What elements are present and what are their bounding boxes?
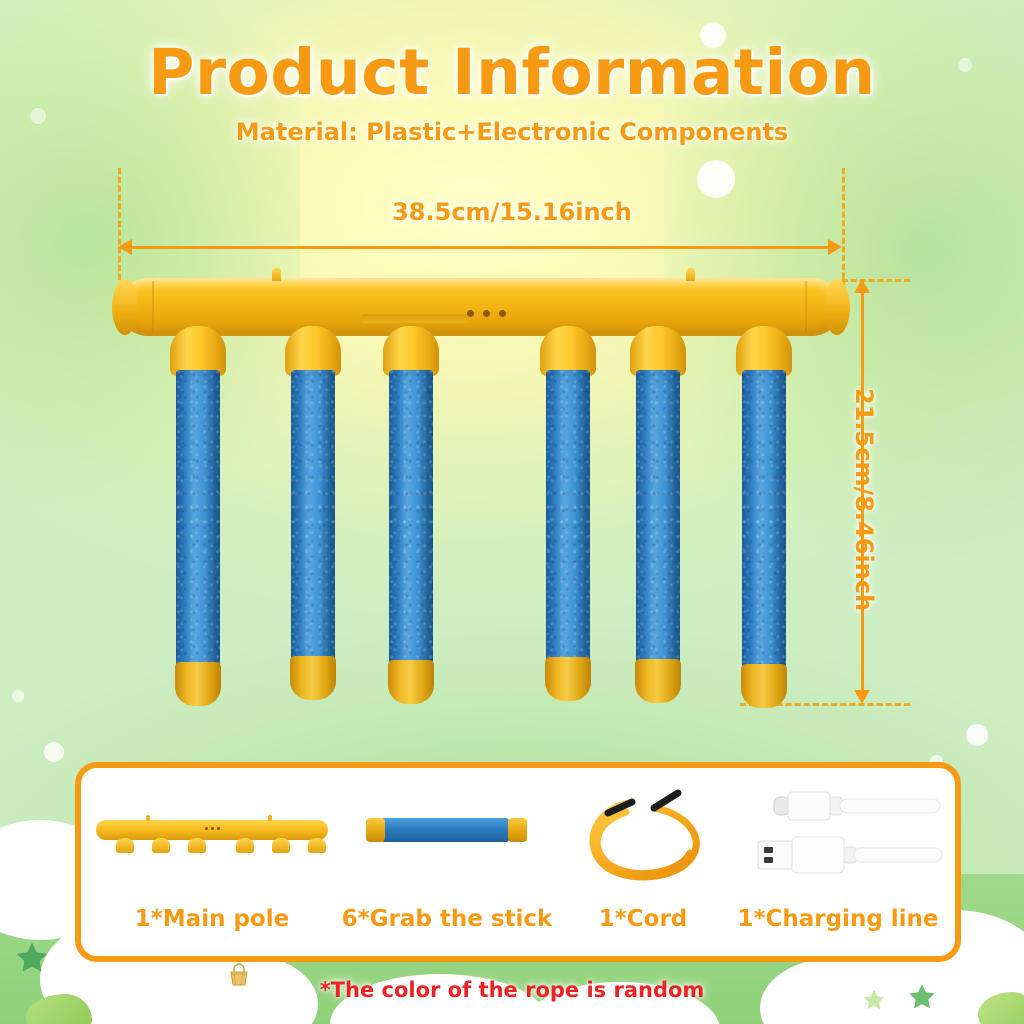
width-arrow-head-right (828, 239, 842, 255)
indicator-led-icon (483, 310, 490, 317)
mini-hanger-nub (268, 815, 272, 821)
main-pole-body (118, 278, 842, 336)
page-title: Product Information (0, 36, 1024, 109)
mini-indicator-led-icon (205, 827, 208, 830)
mini-socket (272, 838, 290, 853)
bokeh-circle (12, 690, 24, 702)
grab-stick-tip-cap (635, 659, 681, 703)
mini-indicator-led-icon (217, 827, 220, 830)
mini-hanger-nub (146, 815, 150, 821)
grab-stick-tip-cap (741, 664, 787, 708)
grab-stick-foam (742, 370, 786, 674)
pole-hanger-nub (272, 268, 281, 281)
guide-line-right (842, 168, 845, 296)
width-arrow-head-left (118, 239, 132, 255)
grab-stick-foam (636, 370, 680, 669)
pole-seam (152, 281, 154, 333)
bokeh-circle (966, 724, 988, 746)
guide-line-top-right (842, 279, 910, 282)
part-label-main-pole: 1*Main pole (96, 906, 328, 932)
mini-socket (236, 838, 254, 853)
charging-cable-icon (752, 785, 948, 885)
mini-socket (308, 838, 326, 853)
material-subtitle: Material: Plastic+Electronic Components (0, 118, 1024, 146)
bokeh-circle (697, 160, 735, 198)
pole-seam (805, 281, 807, 333)
grab-stick-foam (176, 370, 220, 672)
grab-stick-tip-cap (290, 656, 336, 700)
mini-socket (188, 838, 206, 853)
grab-stick-tip-cap (175, 662, 221, 706)
stick-socket (170, 326, 226, 376)
mini-socket (116, 838, 134, 853)
height-dimension-label: 21.5cm/8.46inch (850, 388, 878, 611)
grab-stick-foam (546, 370, 590, 667)
indicator-led-icon (467, 310, 474, 317)
grab-stick-foam (291, 370, 335, 666)
height-arrow-head-bottom (854, 690, 870, 704)
height-dimension-arrow (861, 290, 864, 693)
stick-socket (736, 326, 792, 376)
mini-socket (152, 838, 170, 853)
grab-stick-icon-foam (381, 818, 509, 842)
bokeh-circle (44, 742, 64, 762)
stick-socket (630, 326, 686, 376)
part-label-charging-line: 1*Charging line (730, 906, 946, 932)
stick-socket (383, 326, 439, 376)
cord-icon (580, 785, 710, 890)
star-icon (14, 940, 50, 976)
indicator-led-icon (499, 310, 506, 317)
pole-speaker-slot (360, 314, 470, 323)
product-information-infographic: Product Information Material: Plastic+El… (0, 0, 1024, 1024)
part-label-cord: 1*Cord (578, 906, 708, 932)
grab-stick-icon-cap-right (508, 818, 527, 842)
height-arrow-head-top (854, 279, 870, 293)
usb-a-connector (758, 837, 942, 873)
rope-color-footnote: *The color of the rope is random (0, 978, 1024, 1002)
pole-end-cap-right (824, 279, 850, 335)
pole-end-cap-left (112, 279, 138, 335)
grab-stick-tip-cap (388, 660, 434, 704)
usb-c-connector (774, 792, 940, 820)
mini-pole-body (96, 820, 328, 840)
stick-socket (540, 326, 596, 376)
stick-socket (285, 326, 341, 376)
width-dimension-arrow (128, 246, 838, 249)
mini-indicator-led-icon (211, 827, 214, 830)
grab-stick-icon-cap-left (366, 818, 385, 842)
grab-stick-foam (389, 370, 433, 670)
pole-hanger-nub (686, 268, 695, 281)
width-dimension-label: 38.5cm/15.16inch (0, 198, 1024, 226)
part-label-grab-stick: 6*Grab the stick (338, 906, 556, 932)
grab-stick-tip-cap (545, 657, 591, 701)
